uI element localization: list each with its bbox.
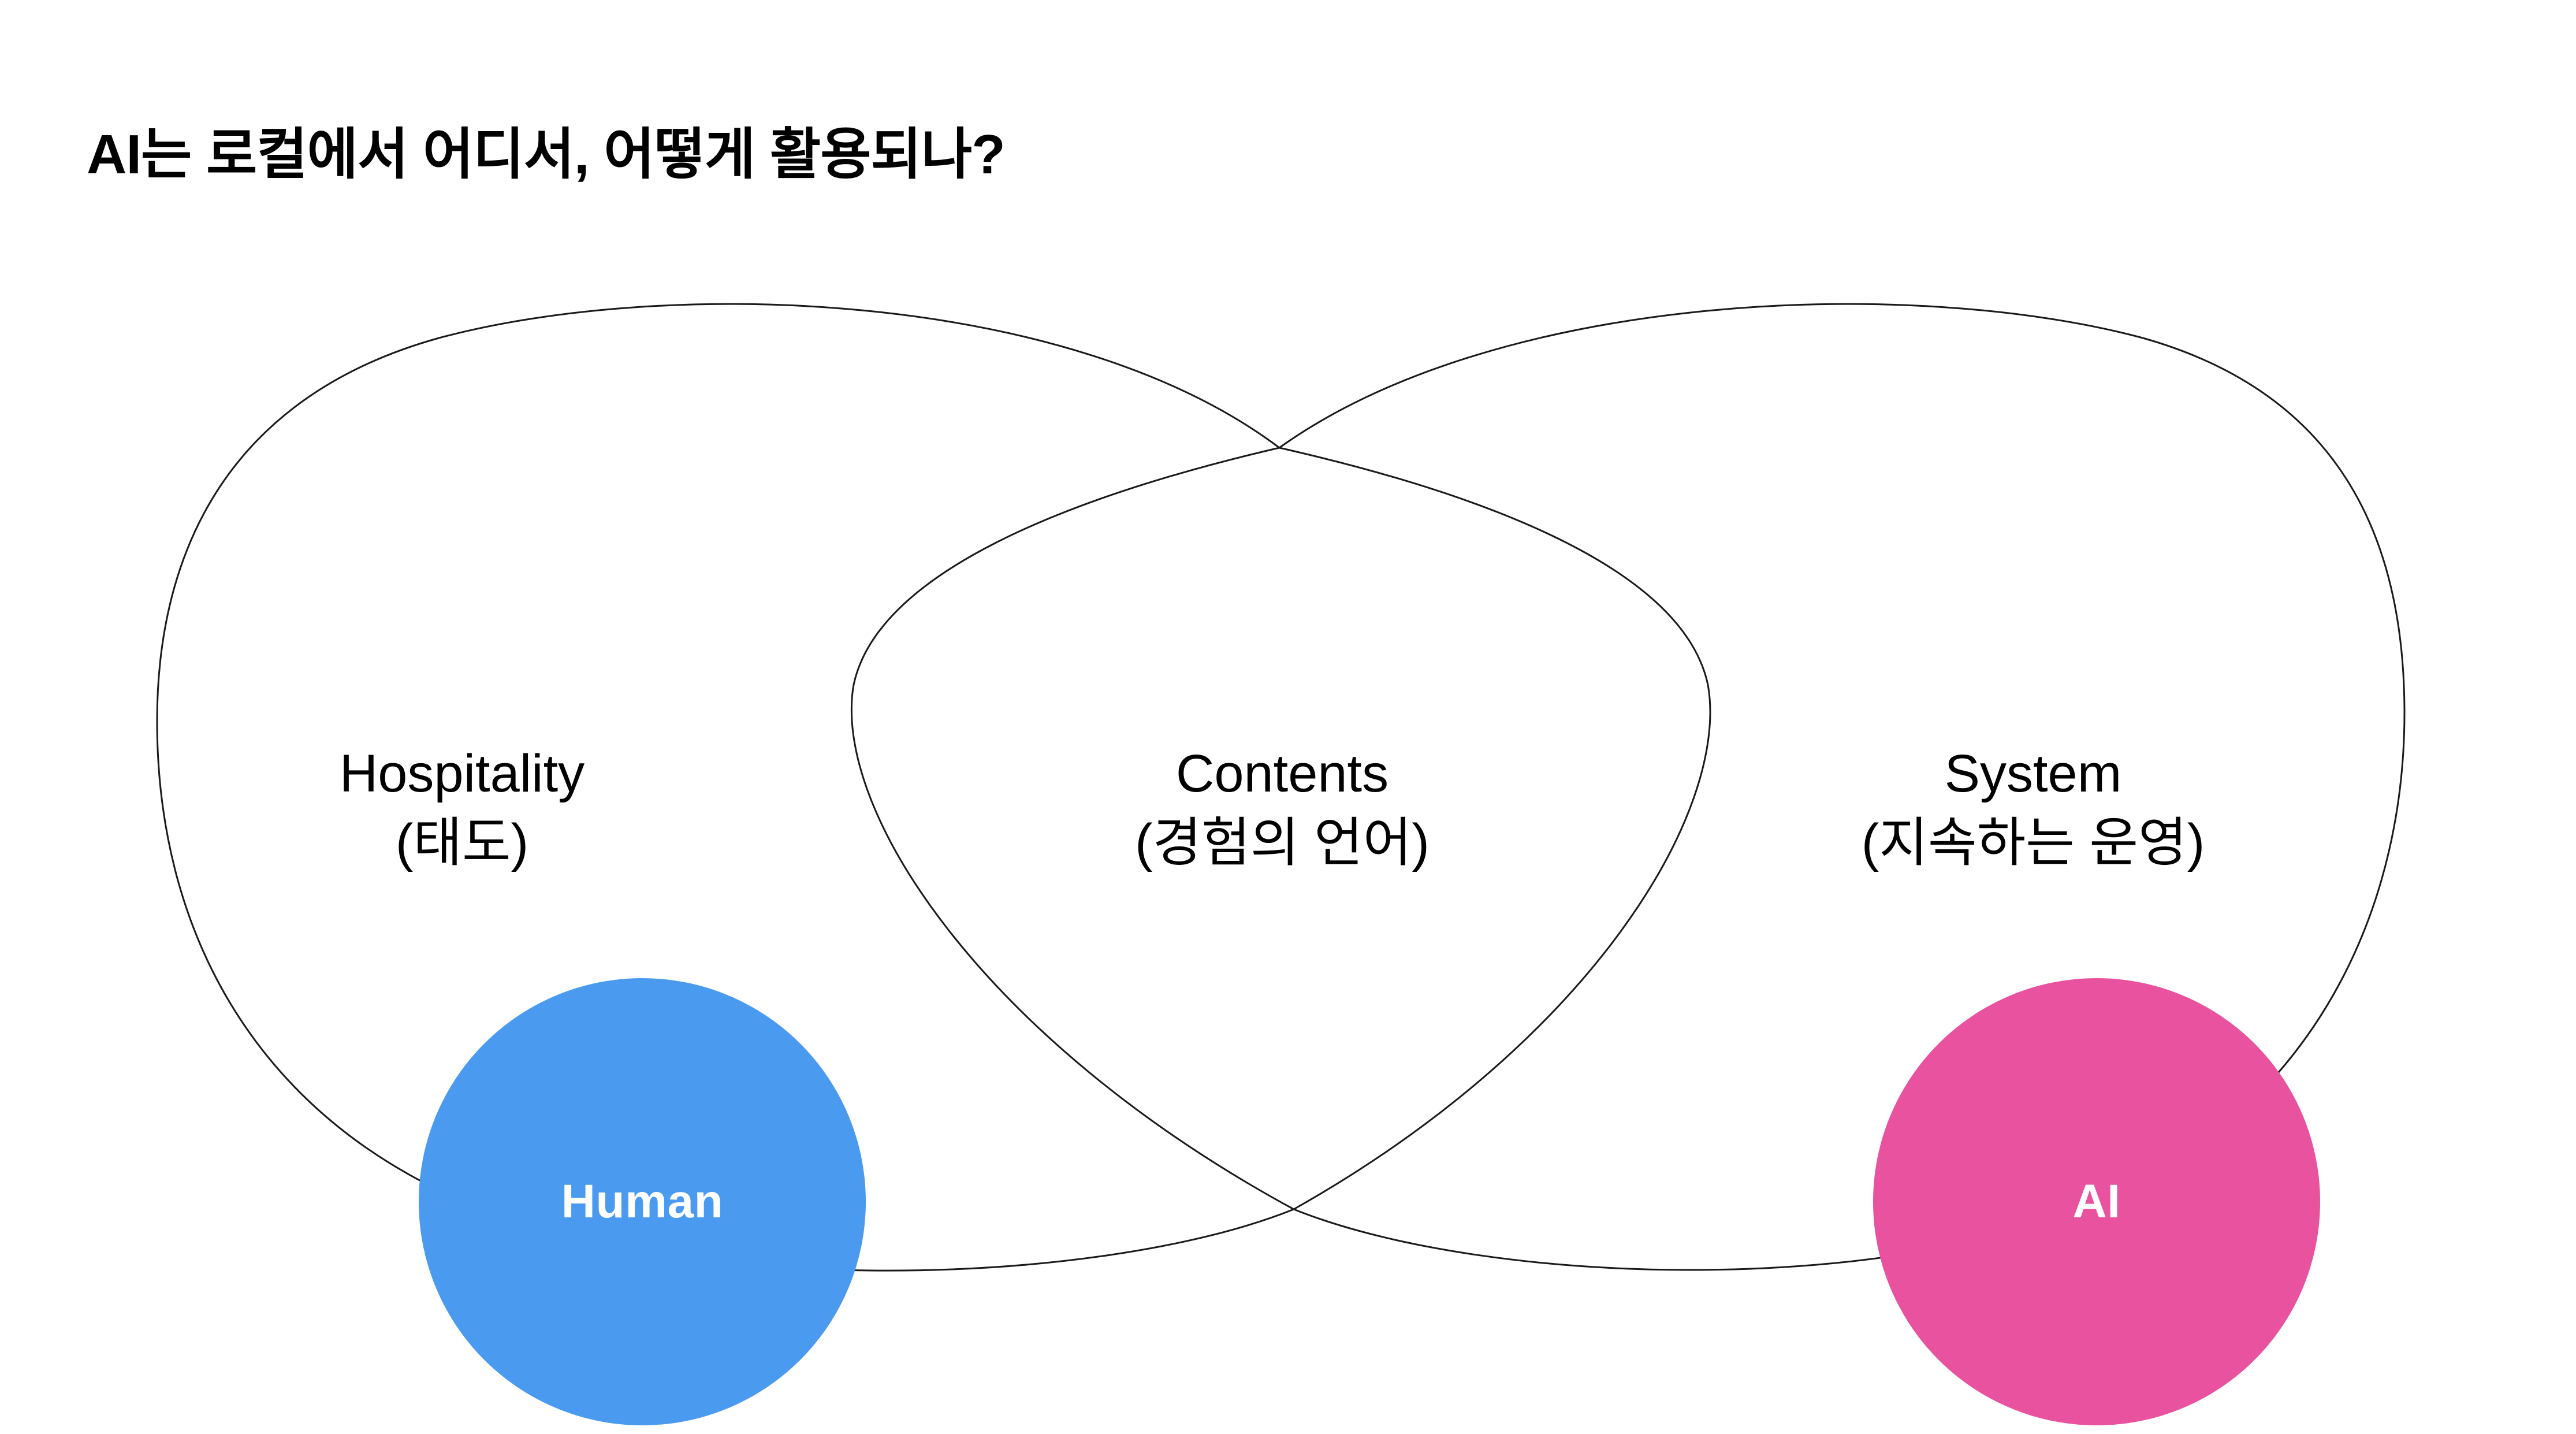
node-label-ai: AI — [2073, 1175, 2121, 1229]
node-circle-human: Human — [419, 978, 866, 1425]
node-circle-ai: AI — [1873, 978, 2320, 1425]
slide-canvas: AI는 로컬에서 어디서, 어떻게 활용되나? Hospitality (태도)… — [0, 0, 2576, 1434]
region-label-system-en: System — [1945, 744, 2122, 803]
region-label-contents-en: Contents — [1176, 744, 1388, 803]
region-label-contents: Contents (경험의 언어) — [993, 740, 1571, 878]
region-label-contents-ko: (경험의 언어) — [993, 809, 1571, 878]
region-label-system-ko: (지속하는 운영) — [1710, 809, 2357, 878]
node-label-human: Human — [561, 1175, 723, 1229]
region-label-hospitality-en: Hospitality — [340, 744, 585, 803]
region-label-system: System (지속하는 운영) — [1710, 740, 2357, 878]
region-label-hospitality: Hospitality (태도) — [173, 740, 751, 878]
region-label-hospitality-ko: (태도) — [173, 809, 751, 878]
